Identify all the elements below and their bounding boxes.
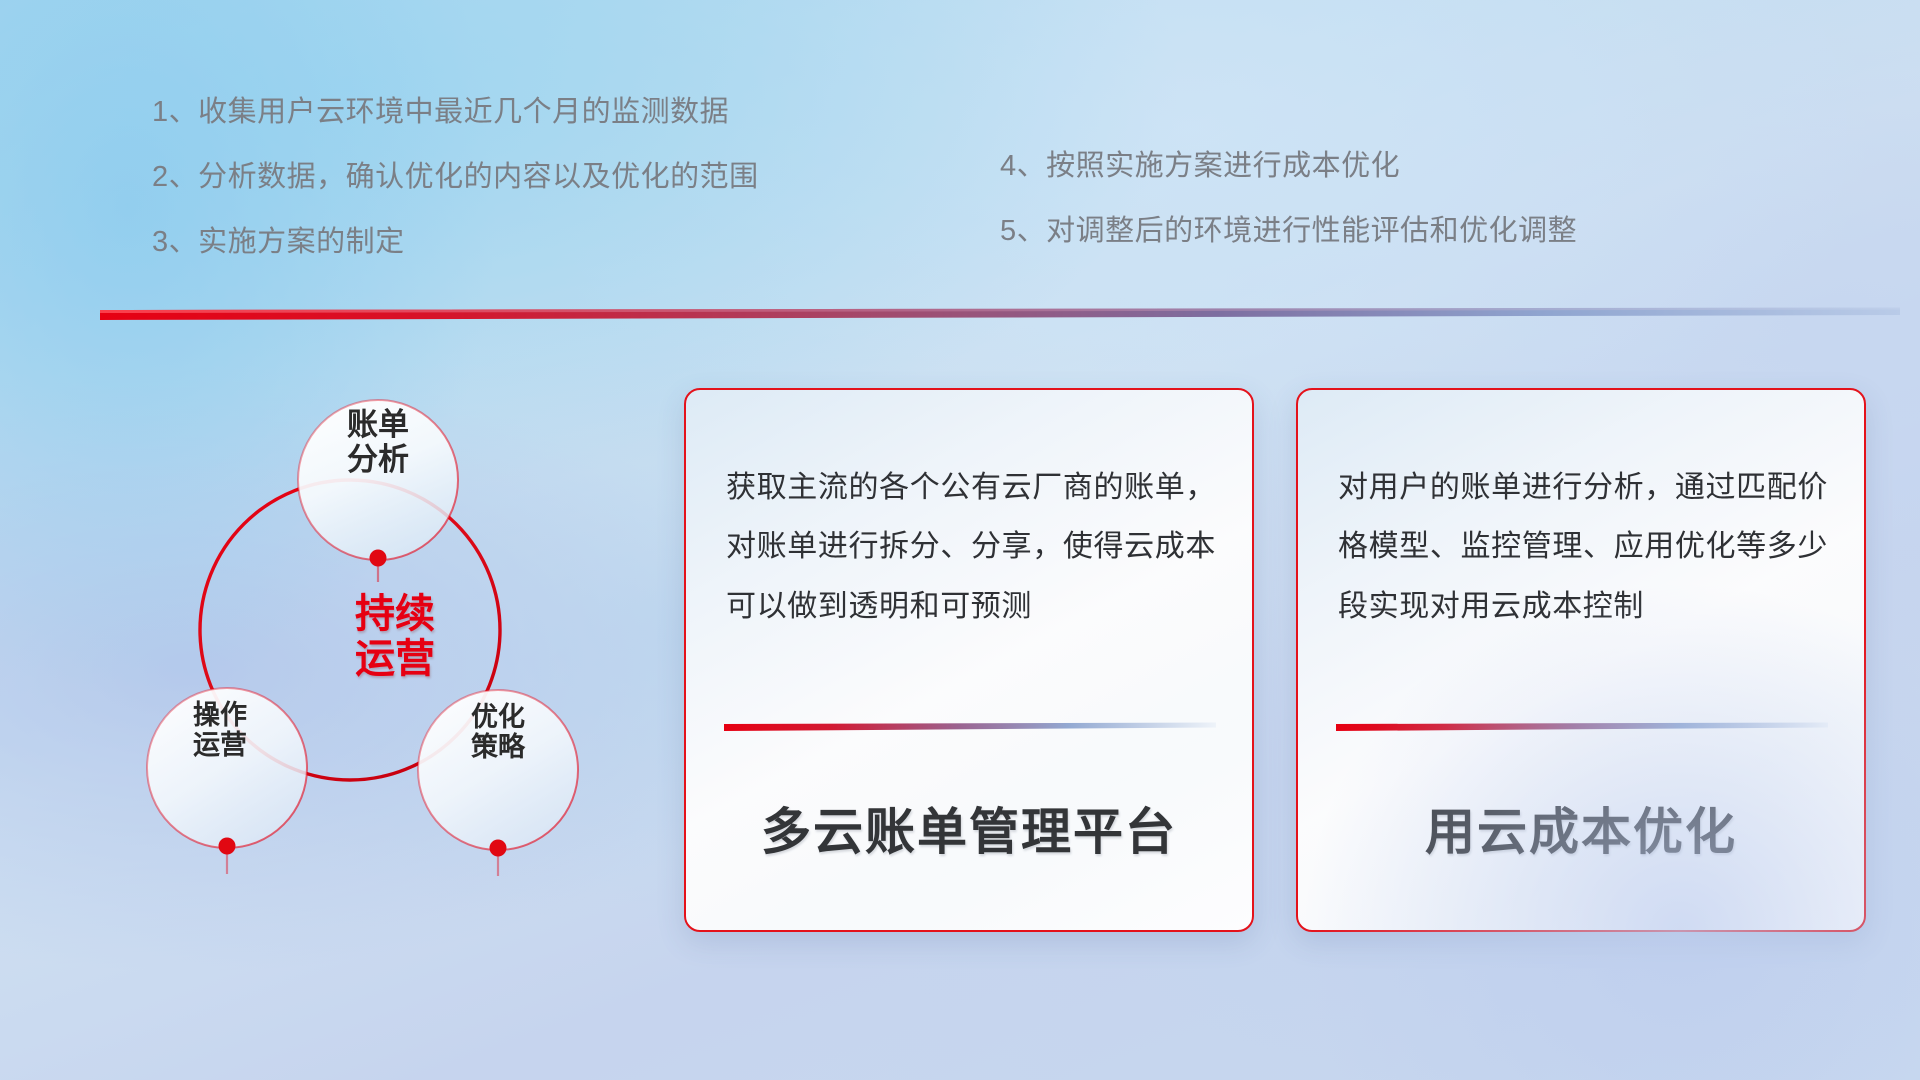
card-cloud-cost-optimization[interactable]: 对用户的账单进行分析，通过匹配价格模型、监控管理、应用优化等多少段实现对用云成本… bbox=[1296, 388, 1866, 932]
card-title: 多云账单管理平台 bbox=[686, 792, 1252, 864]
venn-bubble-bill-analysis bbox=[298, 400, 458, 560]
venn-node-dot-optimize-strategy bbox=[490, 840, 507, 877]
process-step-5: 5、对调整后的环境进行性能评估和优化调整 bbox=[1000, 217, 1577, 246]
process-steps-right: 4、按照实施方案进行成本优化 5、对调整后的环境进行性能评估和优化调整 bbox=[1000, 152, 1577, 246]
venn-svg bbox=[90, 330, 630, 950]
continuous-operations-venn-diagram: 账单 分析 持续 运营 操作 运营 优化 策略 bbox=[90, 330, 630, 950]
venn-bubble-operations bbox=[147, 688, 307, 848]
process-step-2: 2、分析数据，确认优化的内容以及优化的范围 bbox=[152, 163, 759, 192]
card-body-text: 获取主流的各个公有云厂商的账单，对账单进行拆分、分享，使得云成本可以做到透明和可… bbox=[726, 458, 1216, 636]
card-accent-rule bbox=[724, 722, 1216, 732]
section-divider-line bbox=[100, 306, 1900, 320]
card-accent-rule bbox=[1336, 722, 1828, 732]
process-step-3: 3、实施方案的制定 bbox=[152, 228, 759, 257]
venn-node-dot-bill-analysis bbox=[370, 550, 387, 583]
card-title: 用云成本优化 bbox=[1298, 792, 1864, 864]
card-multi-cloud-bill-platform[interactable]: 获取主流的各个公有云厂商的账单，对账单进行拆分、分享，使得云成本可以做到透明和可… bbox=[684, 388, 1254, 932]
slide-canvas: 1、收集用户云环境中最近几个月的监测数据 2、分析数据，确认优化的内容以及优化的… bbox=[0, 0, 1920, 1080]
venn-bubble-optimize-strategy bbox=[418, 690, 578, 850]
process-step-4: 4、按照实施方案进行成本优化 bbox=[1000, 152, 1577, 181]
venn-node-dot-operations bbox=[219, 838, 236, 875]
process-step-1: 1、收集用户云环境中最近几个月的监测数据 bbox=[152, 98, 759, 127]
process-steps-left: 1、收集用户云环境中最近几个月的监测数据 2、分析数据，确认优化的内容以及优化的… bbox=[152, 98, 759, 257]
card-body-text: 对用户的账单进行分析，通过匹配价格模型、监控管理、应用优化等多少段实现对用云成本… bbox=[1338, 458, 1828, 636]
